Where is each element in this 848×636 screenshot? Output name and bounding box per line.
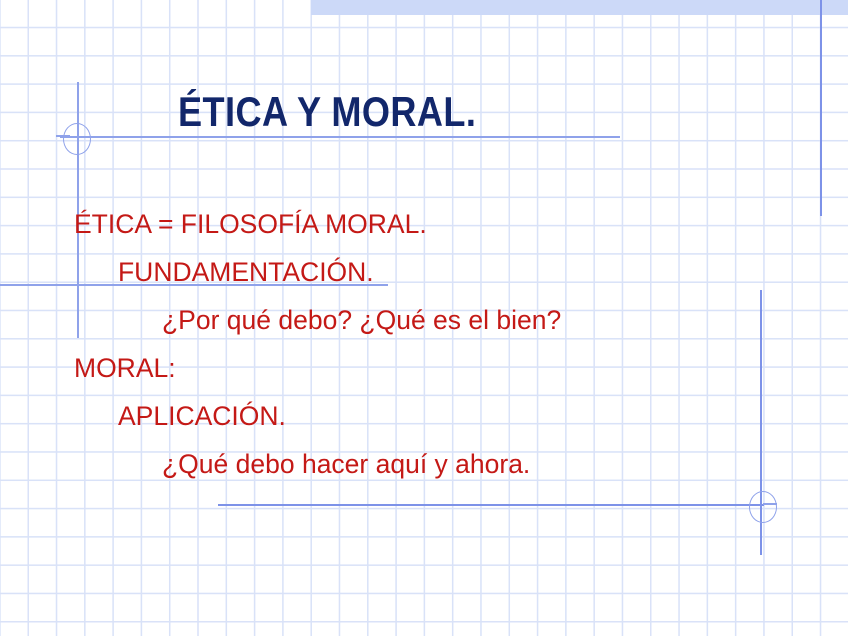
presentation-slide: ÉTICA Y MORAL. ÉTICA = FILOSOFÍA MORAL. … xyxy=(0,0,848,636)
accent-line-horizontal-title-underline xyxy=(60,136,620,138)
body-line-5: APLICACIÓN. xyxy=(74,392,774,440)
accent-line-vertical-right-top xyxy=(820,0,822,216)
circle-motif-top-left-tick xyxy=(56,135,70,137)
slide-title: ÉTICA Y MORAL. xyxy=(178,88,476,136)
circle-motif-bottom-right-tick xyxy=(763,503,777,505)
circle-motif-bottom-right-icon xyxy=(749,491,777,523)
top-banner-bar xyxy=(311,0,848,15)
body-line-1: ÉTICA = FILOSOFÍA MORAL. xyxy=(74,200,774,248)
body-line-2: FUNDAMENTACIÓN. xyxy=(74,248,774,296)
body-line-6: ¿Qué debo hacer aquí y ahora. xyxy=(74,440,774,488)
accent-line-horizontal-bottom xyxy=(218,504,764,506)
body-line-3: ¿Por qué debo? ¿Qué es el bien? xyxy=(74,296,774,344)
slide-body: ÉTICA = FILOSOFÍA MORAL. FUNDAMENTACIÓN.… xyxy=(74,200,774,488)
circle-motif-top-left-icon xyxy=(63,123,91,155)
body-line-4: MORAL: xyxy=(74,344,774,392)
